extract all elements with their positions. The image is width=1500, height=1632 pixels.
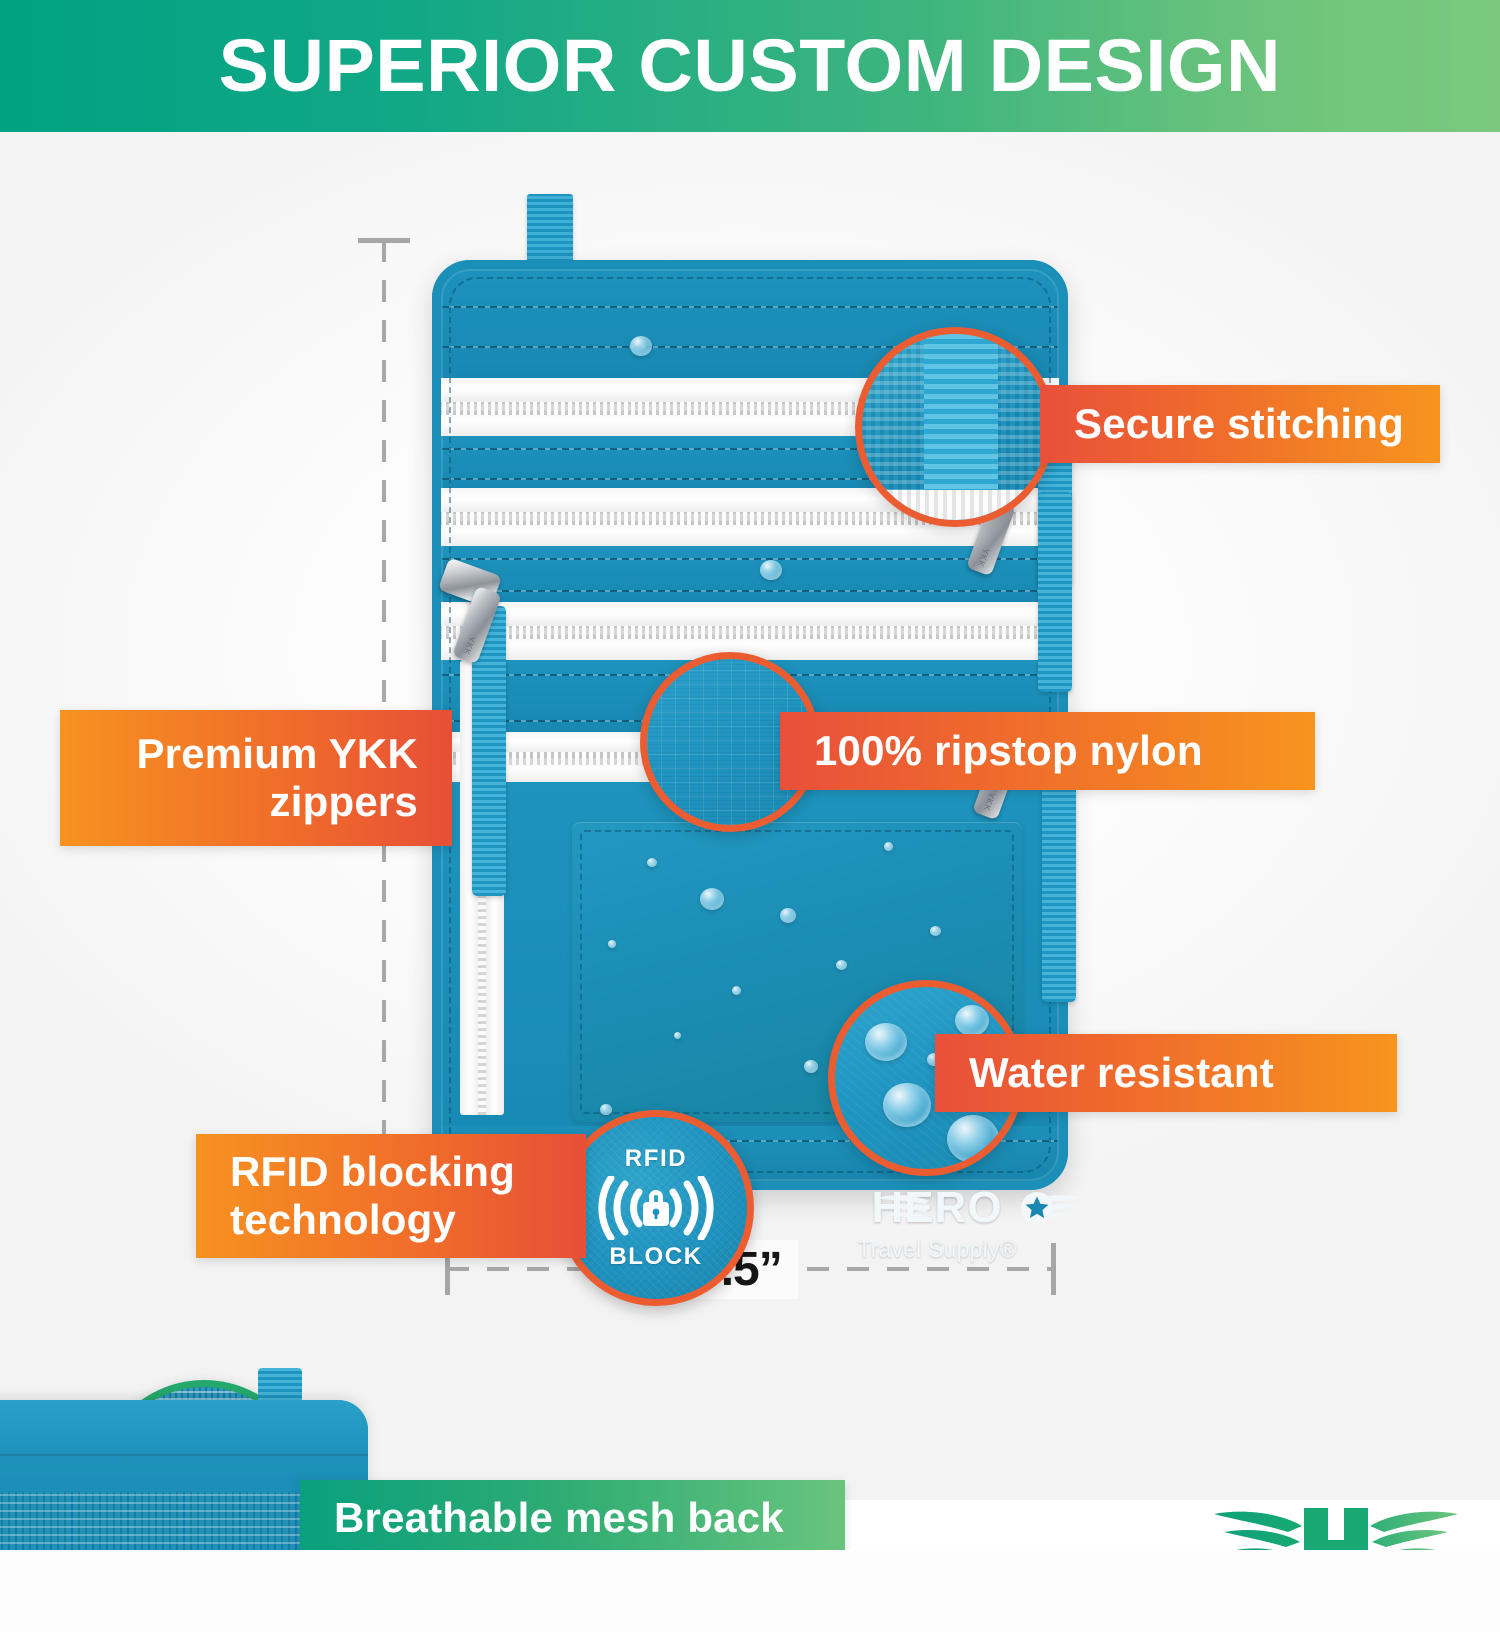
rfid-badge-bottom-label: BLOCK xyxy=(609,1243,702,1271)
hero-brand-logo: HERO Travel Supply® xyxy=(828,1174,1046,1270)
callout-rfid-blocking: RFID blocking technology xyxy=(196,1134,586,1258)
page-title: SUPERIOR CUSTOM DESIGN xyxy=(219,29,1281,103)
rfid-badge-top-label: RFID xyxy=(625,1145,687,1173)
rfid-lock-icon xyxy=(581,1176,731,1240)
callout-breathable-mesh-back: Breathable mesh back xyxy=(300,1480,845,1556)
callout-secure-stitching: Secure stitching xyxy=(1040,385,1440,463)
product-stage: 8” 5.5” xyxy=(0,132,1500,1500)
rfid-block-badge: RFID BLOCK xyxy=(558,1110,754,1306)
hero-subtitle: Travel Supply® xyxy=(857,1236,1017,1263)
header-banner: SUPERIOR CUSTOM DESIGN xyxy=(0,0,1500,132)
callout-premium-ykk-zippers: Premium YKK zippers xyxy=(60,710,452,846)
magnifier-secure-stitching xyxy=(855,327,1055,527)
footer-band xyxy=(0,1550,1500,1632)
callout-ripstop-nylon: 100% ripstop nylon xyxy=(780,712,1315,790)
hero-wings-icon xyxy=(871,1182,1089,1232)
hero-star-icon xyxy=(1020,1191,1054,1225)
callout-water-resistant: Water resistant xyxy=(935,1034,1397,1112)
